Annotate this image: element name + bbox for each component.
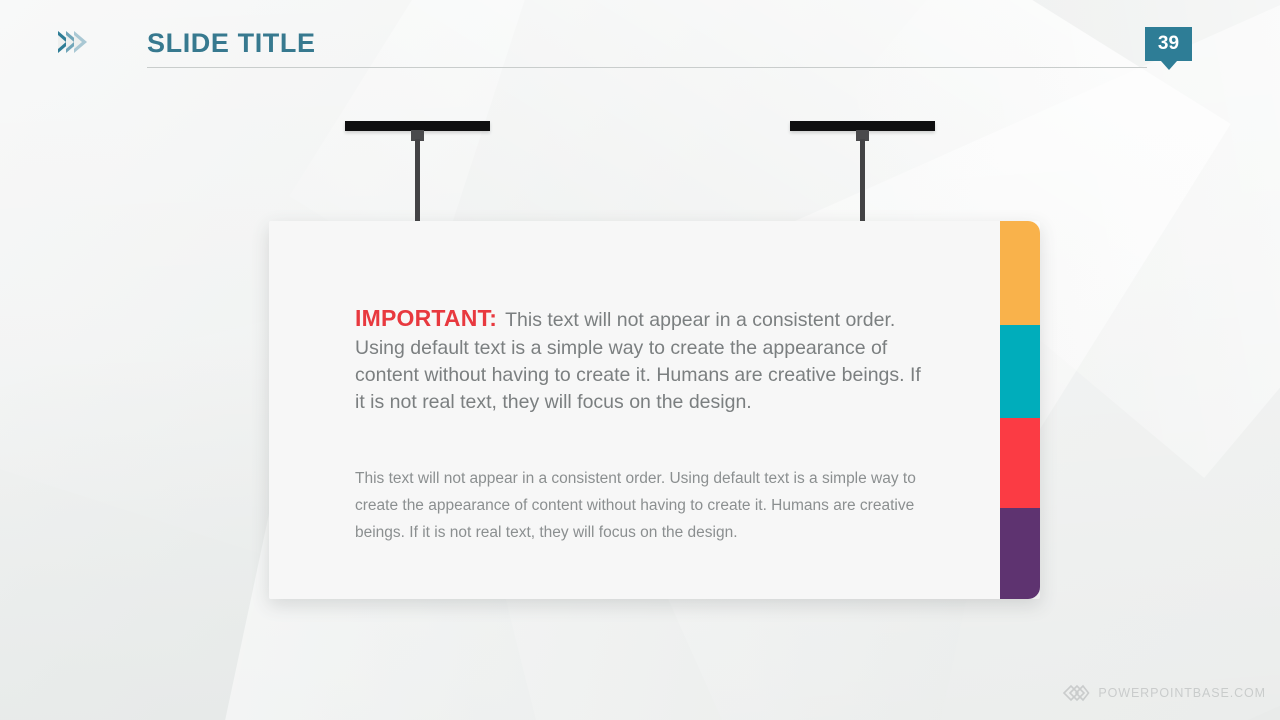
content-card: IMPORTANT:This text will not appear in a… bbox=[269, 221, 1040, 599]
slide-canvas: SLIDE TITLE 39 IMPORTANT:This text will … bbox=[0, 0, 1280, 720]
chevron-icon bbox=[74, 31, 87, 53]
color-segment-amber bbox=[1000, 221, 1040, 325]
card-text-block: IMPORTANT:This text will not appear in a… bbox=[355, 303, 935, 416]
diamond-logo-icon bbox=[1061, 682, 1091, 704]
important-label: IMPORTANT: bbox=[355, 305, 497, 331]
title-divider bbox=[147, 67, 1147, 68]
color-segment-purple bbox=[1000, 508, 1040, 599]
watermark-text: POWERPOINTBASE.COM bbox=[1098, 686, 1266, 700]
body-paragraph: This text will not appear in a consisten… bbox=[355, 466, 933, 546]
slide-header: SLIDE TITLE 39 bbox=[0, 0, 1280, 76]
double-chevron-right-icon bbox=[58, 31, 82, 53]
page-title: SLIDE TITLE bbox=[147, 28, 316, 59]
color-segment-teal bbox=[1000, 325, 1040, 418]
page-number-badge: 39 bbox=[1145, 27, 1192, 61]
watermark: POWERPOINTBASE.COM bbox=[1061, 682, 1266, 704]
lead-paragraph: IMPORTANT:This text will not appear in a… bbox=[355, 303, 935, 416]
color-accent-strip bbox=[1000, 221, 1040, 599]
color-segment-red bbox=[1000, 418, 1040, 509]
